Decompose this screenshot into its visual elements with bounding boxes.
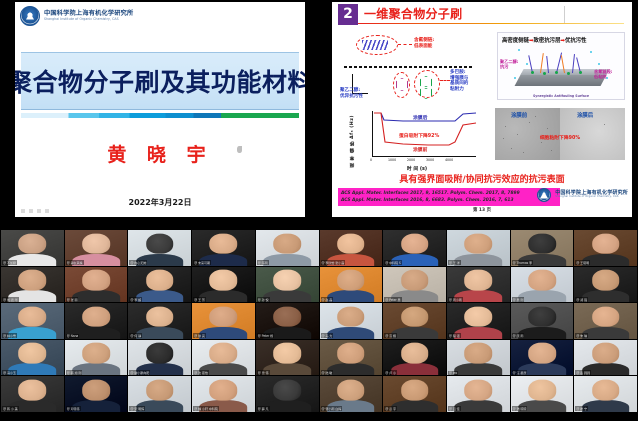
participant-name-label: @ Peter 杨	[257, 333, 274, 338]
participant-tile[interactable]: @ leo	[447, 340, 510, 376]
participant-tile[interactable]: @ 吴 刚	[511, 267, 574, 303]
participant-tile[interactable]: @ 李欣怡 张小露	[320, 230, 383, 266]
participant-tile[interactable]: @ 卢 小	[383, 340, 446, 376]
participant-tile[interactable]: @ Nana	[65, 303, 128, 339]
participant-face	[592, 270, 620, 291]
participant-name-label: @ 林小雪	[2, 333, 17, 338]
anchor-group	[531, 71, 534, 74]
participant-body	[391, 363, 439, 375]
participant-face	[592, 233, 620, 254]
participant-name-label: @ Thomas 李	[512, 260, 533, 265]
participant-name-label: @ 沈 嘉怡	[193, 370, 209, 375]
reference-line-1: ACS Appl. Mater. Interfaces 2017, 9, 165…	[341, 190, 557, 198]
polymer-structure-diagram: 含氟侧链:低表面能 聚乙二醇:优异抗污性 多巴胺:增强膜与基质间的粘附力	[338, 30, 490, 104]
slide-conclusion-text: 具有强界面吸附/协同抗污效应的抗污表面	[332, 172, 632, 185]
label-peg: 聚乙二醇:优异抗污性	[340, 88, 363, 99]
participant-name-label: @ 崔 宁	[575, 406, 588, 411]
participant-tile[interactable]: @ 陆 敏	[320, 340, 383, 376]
participant-face	[19, 343, 47, 364]
participant-name-label: @ 程 诺	[448, 333, 461, 338]
zoom-meeting-window: 中国科学院上海有机化学研究所 Shanghai Institute of Org…	[0, 0, 638, 421]
participant-name-label: @ 郑 强	[575, 297, 588, 302]
participant-name-label: @ 冯小玉	[2, 370, 17, 375]
participant-name-label: @ 王 洋	[448, 260, 461, 265]
chart-xtick-2: 2000	[407, 158, 415, 162]
participant-name-label: @ 张 丽	[66, 297, 79, 302]
institute-name-en: Shanghai Institute of Organic Chemistry,…	[44, 18, 133, 21]
title-band: 聚合物分子刷及其功能材料	[21, 52, 299, 110]
participant-tile[interactable]: @ 静女其姝	[65, 230, 128, 266]
footer-institute-en: Shanghai Institute of Organic Chemistry,…	[555, 196, 628, 199]
participant-grid: @ 不加糖@ 静女其姝@ 内心无她@ 未来可期@ 陈明@ 李欣怡 张小露@ 中科…	[1, 230, 637, 412]
chart-annotation: 蛋白吸附下降92%	[399, 132, 439, 139]
participant-tile[interactable]: @ 邓伟伟	[65, 376, 128, 412]
protein-particle	[590, 51, 592, 53]
participant-tile[interactable]: @ 刘 德 华	[1, 267, 64, 303]
chart-plot-area: 涂膜后 蛋白吸附下降92% 涂膜前	[372, 111, 476, 157]
polymer-backbone	[344, 66, 472, 68]
decorative-gradient-bar	[21, 113, 299, 118]
participant-tile[interactable]: @ 徐 亮	[192, 303, 255, 339]
participant-tile[interactable]: @ 彭 宇	[383, 376, 446, 412]
chart-y-axis-label: 频 率 偏 移 Δf₃ (Hz)	[350, 115, 360, 168]
participant-tile[interactable]: @ 何 静	[128, 303, 191, 339]
chart-xtick-3: 3000	[426, 158, 434, 162]
participant-name-label: @ 李欣怡 张小露	[321, 260, 346, 265]
participant-name-label: @ 周小雨	[448, 297, 463, 302]
participant-tile[interactable]: @ 李 超	[128, 267, 191, 303]
participant-body	[263, 400, 311, 412]
shared-screen-region: 中国科学院上海有机化学研究所 Shanghai Institute of Org…	[0, 0, 638, 219]
participant-name-label: @ 徐 亮	[193, 333, 206, 338]
participant-name-label: @ 高 翔	[384, 333, 397, 338]
participant-tile[interactable]: @ 程 诺	[447, 303, 510, 339]
participant-face	[210, 270, 238, 291]
participant-name-label: @ 朱 琳	[575, 333, 588, 338]
participant-name-label: @ 袁 圆圆	[575, 370, 591, 375]
participant-tile[interactable]: @ 林小雪	[1, 303, 64, 339]
dopamine-leader-line	[440, 80, 450, 81]
participant-face	[210, 306, 238, 327]
protein-particle	[526, 63, 528, 65]
participant-face	[82, 380, 110, 401]
chart-label-before: 涂膜前	[413, 146, 427, 153]
participant-tile[interactable]: @ 薛 凡	[256, 376, 319, 412]
participant-name-label: @ 王 芳	[193, 297, 206, 302]
participant-name-label: @ 彭 宇	[384, 406, 397, 411]
participant-name-label: @ 韩 旭 刚	[66, 370, 83, 375]
anchor-group	[567, 72, 570, 75]
participant-face	[82, 233, 110, 254]
participant-name-label: @ 陈明	[257, 260, 269, 265]
anchor-group	[555, 71, 558, 74]
slide-footer-marks	[21, 208, 81, 214]
participant-name-label: @ 吴 刚	[512, 297, 525, 302]
participant-tile[interactable]: @ 曾 伟	[256, 340, 319, 376]
participant-face	[146, 380, 174, 401]
participant-body	[327, 363, 375, 375]
participant-tile[interactable]: @ 谢小鹏向阳	[128, 340, 191, 376]
protein-particle	[518, 49, 520, 51]
participant-body	[136, 327, 184, 339]
sioc-logo-icon	[20, 6, 40, 26]
participant-body	[263, 290, 311, 302]
participant-face	[210, 343, 238, 364]
participant-name-label: @ 马 力	[321, 333, 334, 338]
participant-tile[interactable]: @ 蒋 小 美	[1, 376, 64, 412]
participant-name-label: @ 曹小雨 白梅	[321, 406, 343, 411]
slide-title: 聚合物分子刷及其功能材料	[15, 63, 305, 99]
schematic-label-fluoro: 含氟链段:低粘附	[594, 69, 612, 80]
participant-tile[interactable]: @ 冯小玉	[1, 340, 64, 376]
participant-face	[19, 270, 47, 291]
chart-xtick-1: 1000	[388, 158, 396, 162]
participant-face	[528, 233, 556, 254]
participant-tile[interactable]: @ 王晓明	[574, 230, 637, 266]
chart-xtick-0: 0	[370, 158, 372, 162]
participant-body	[72, 290, 120, 302]
participant-body	[582, 327, 630, 339]
participant-tile[interactable]: @ 中科院 S	[383, 230, 446, 266]
participant-body	[582, 290, 630, 302]
participant-face	[464, 270, 492, 291]
participant-body	[518, 290, 566, 302]
participant-tile[interactable]: @ 陈明	[256, 230, 319, 266]
participant-body	[200, 290, 248, 302]
participant-name-label: @ leo	[448, 371, 458, 375]
reference-line-2: ACS Appl. Mater. Interfaces 2016, 8, 668…	[341, 197, 557, 205]
institute-logo-header: 中国科学院上海有机化学研究所 Shanghai Institute of Org…	[15, 2, 305, 30]
section-number-badge: 2	[338, 4, 358, 23]
participant-tile[interactable]: @ 袁 圆圆	[574, 340, 637, 376]
participant-tile[interactable]: @ 沈 嘉怡	[192, 340, 255, 376]
participant-face	[337, 270, 365, 291]
participant-face	[401, 270, 429, 291]
participant-name-label: @ 潘 晓晓	[512, 406, 528, 411]
label-fluorinated-sidechain: 含氟侧链:低表面能	[414, 38, 434, 49]
participant-tile[interactable]: @ Peter 杨	[256, 303, 319, 339]
slide-content-page: 2 一维聚合物分子刷 含氟侧链:低表面能 聚乙二醇:优异抗污性	[332, 2, 632, 217]
protein-particle	[598, 63, 600, 65]
participant-face	[146, 343, 174, 364]
participant-tile[interactable]: @ 王 芳	[192, 267, 255, 303]
participant-body	[454, 400, 502, 412]
participant-face	[592, 343, 620, 364]
participant-face	[273, 380, 301, 401]
participant-face	[464, 306, 492, 327]
participant-name-label: @ 邓伟伟	[66, 406, 81, 411]
participant-face	[592, 306, 620, 327]
sioc-logo-icon-footer	[537, 188, 551, 202]
presentation-date: 2022年3月22日	[15, 197, 305, 208]
participant-tile[interactable]: @ Peter 吴	[383, 267, 446, 303]
participant-name-label: @ 陆 敏	[321, 370, 334, 375]
participant-body	[391, 400, 439, 412]
participant-face	[337, 380, 365, 401]
participant-face	[337, 306, 365, 327]
participant-name-label: @ Nana	[66, 334, 80, 338]
participant-face	[273, 270, 301, 291]
participant-face	[19, 306, 47, 327]
participant-face	[337, 233, 365, 254]
participant-name-label: @ 何 静	[129, 333, 142, 338]
participant-tile[interactable]: @ Thomas 李	[511, 230, 574, 266]
participant-name-label: @ 蒋 小 美	[2, 406, 19, 411]
schematic-headline: 高密度侧链➡致密抗污层➡优抗污性	[502, 36, 587, 44]
participant-face	[19, 233, 47, 254]
participant-face	[273, 233, 301, 254]
participant-face	[273, 343, 301, 364]
qcm-frequency-chart: 频 率 偏 移 Δf₃ (Hz) 涂膜后 蛋白吸附下降92% 涂膜前 0 100…	[352, 109, 482, 171]
protein-particle	[514, 77, 516, 79]
participant-tile[interactable]: @ 曹小雨 白梅	[320, 376, 383, 412]
participant-body	[454, 363, 502, 375]
participant-face	[82, 306, 110, 327]
participant-face	[528, 380, 556, 401]
participant-name-label: @ 薛 凡	[257, 406, 270, 411]
participant-face	[464, 343, 492, 364]
participant-face	[337, 343, 365, 364]
participant-face	[273, 306, 301, 327]
participant-body	[263, 363, 311, 375]
participant-name-label: @ 孙 悦	[257, 297, 270, 302]
schematic-caption: Synergistic Antifouling Surface	[498, 94, 624, 98]
participant-tile[interactable]: @ 孙 悦	[256, 267, 319, 303]
participant-tile[interactable]: @ 宋 明辉	[128, 376, 191, 412]
participant-tile[interactable]: @ 朱 琳	[574, 303, 637, 339]
participant-tile[interactable]: @ 郑 强	[574, 267, 637, 303]
institute-logo-text: 中国科学院上海有机化学研究所 Shanghai Institute of Org…	[44, 11, 133, 21]
participant-face	[528, 270, 556, 291]
participant-face	[401, 233, 429, 254]
participant-tile[interactable]: @ 赵 磊	[320, 267, 383, 303]
participant-tile[interactable]: @ 内心无她	[128, 230, 191, 266]
participant-tile[interactable]: @ 唐 雨	[511, 303, 574, 339]
participant-body	[454, 327, 502, 339]
participant-face	[146, 306, 174, 327]
participant-face	[401, 343, 429, 364]
participant-name-label: @ 汪 星辰	[512, 370, 528, 375]
chart-xtick-4: 4000	[445, 158, 453, 162]
participant-name-label: @ 刘 德 华	[2, 297, 19, 302]
participant-body	[391, 327, 439, 339]
participant-tile[interactable]: @ 魏 小轩 中科院	[192, 376, 255, 412]
participant-name-label: @ Peter 吴	[384, 297, 401, 302]
participant-tile[interactable]: @ 汪 星辰	[511, 340, 574, 376]
header-rule-gradient	[358, 23, 624, 24]
participant-face	[528, 306, 556, 327]
footer-institute-text: 中国科学院上海有机化学研究所 Shanghai Institute of Org…	[555, 191, 628, 199]
participant-name-label: @ 魏 小轩 中科院	[193, 406, 219, 411]
participant-name-label: @ 赵 磊	[321, 297, 334, 302]
participant-face	[210, 380, 238, 401]
participant-face	[82, 270, 110, 291]
micrograph-annotation: 细胞粘附下降90%	[495, 134, 625, 141]
mouse-cursor-icon	[237, 146, 242, 153]
participant-tile[interactable]: @ 吕 佳	[447, 376, 510, 412]
participant-face	[592, 380, 620, 401]
participant-name-label: @ 不加糖	[2, 260, 17, 265]
participant-body	[263, 254, 311, 266]
participant-name-label: @ 中科院 S	[384, 260, 402, 265]
participant-name-label: @ 内心无她	[129, 260, 147, 265]
participant-face	[401, 306, 429, 327]
participant-tile[interactable]: @ 不加糖	[1, 230, 64, 266]
participant-body	[454, 254, 502, 266]
schematic-label-peg: 聚乙二醇:抗污	[500, 59, 518, 70]
participant-face	[146, 270, 174, 291]
antifouling-surface-schematic: 高密度侧链➡致密抗污层➡优抗污性	[497, 32, 625, 100]
chart-label-after: 涂膜后	[413, 114, 427, 121]
slide-footer-logo: 中国科学院上海有机化学研究所 Shanghai Institute of Org…	[537, 188, 628, 202]
participant-face	[82, 343, 110, 364]
participant-face	[464, 233, 492, 254]
header-rule-purple	[338, 23, 358, 25]
participant-body	[518, 327, 566, 339]
participant-body	[136, 290, 184, 302]
participant-tile[interactable]: @ 未来可期	[192, 230, 255, 266]
participant-face	[401, 380, 429, 401]
participant-body	[327, 327, 375, 339]
participant-body	[200, 327, 248, 339]
participant-face	[19, 380, 47, 401]
participant-name-label: @ 谢小鹏向阳	[129, 370, 150, 375]
participant-name-label: @ 吕 佳	[448, 406, 461, 411]
reference-citations: ACS Appl. Mater. Interfaces 2017, 9, 165…	[338, 188, 560, 206]
anchor-group	[579, 71, 582, 74]
slide-page-number: 第 13 页	[332, 207, 632, 213]
participant-face	[146, 233, 174, 254]
fluoro-leader-line	[398, 44, 412, 45]
chart-x-axis-label: 时 间 (s)	[352, 165, 482, 172]
participant-tile[interactable]: @ 崔 宁	[574, 376, 637, 412]
participant-tile[interactable]: @ 张 丽	[65, 267, 128, 303]
speaker-name: 黄 晓 宇	[15, 140, 305, 167]
participant-gallery: @ 不加糖@ 静女其姝@ 内心无她@ 未来可期@ 陈明@ 李欣怡 张小露@ 中科…	[0, 219, 638, 421]
participant-tile[interactable]: @ 王 洋	[447, 230, 510, 266]
micrograph-label-before: 涂膜前	[511, 111, 527, 119]
micrograph-label-after: 涂膜后	[577, 111, 593, 119]
anchor-group	[543, 72, 546, 75]
participant-name-label: @ 卢 小	[384, 370, 397, 375]
participant-body	[327, 290, 375, 302]
participant-body	[582, 400, 630, 412]
participant-tile[interactable]: @ 马 力	[320, 303, 383, 339]
participant-tile[interactable]: @ 周小雨	[447, 267, 510, 303]
participant-name-label: @ 李 超	[129, 297, 142, 302]
participant-body	[72, 327, 120, 339]
slide-section-title: 一维聚合物分子刷	[364, 5, 462, 22]
participant-face	[210, 233, 238, 254]
header-divider	[564, 6, 565, 23]
label-dopamine: 多巴胺:增强膜与基质间的粘附力	[450, 70, 468, 93]
participant-name-label: @ 王晓明	[575, 260, 590, 265]
participant-face	[528, 343, 556, 364]
participant-tile[interactable]: @ 韩 旭 刚	[65, 340, 128, 376]
participant-name-label: @ 宋 明辉	[129, 406, 145, 411]
participant-name-label: @ 曾 伟	[257, 370, 270, 375]
participant-name-label: @ 静女其姝	[66, 260, 84, 265]
participant-name-label: @ 唐 雨	[512, 333, 525, 338]
participant-name-label: @ 未来可期	[193, 260, 211, 265]
slide-title-page: 中国科学院上海有机化学研究所 Shanghai Institute of Org…	[15, 2, 305, 217]
cell-adhesion-micrographs: 涂膜前 涂膜后 细胞粘附下降90%	[495, 108, 625, 166]
participant-tile[interactable]: @ 潘 晓晓	[511, 376, 574, 412]
participant-face	[464, 380, 492, 401]
fluoro-highlight-circle	[356, 35, 398, 55]
participant-tile[interactable]: @ 高 翔	[383, 303, 446, 339]
